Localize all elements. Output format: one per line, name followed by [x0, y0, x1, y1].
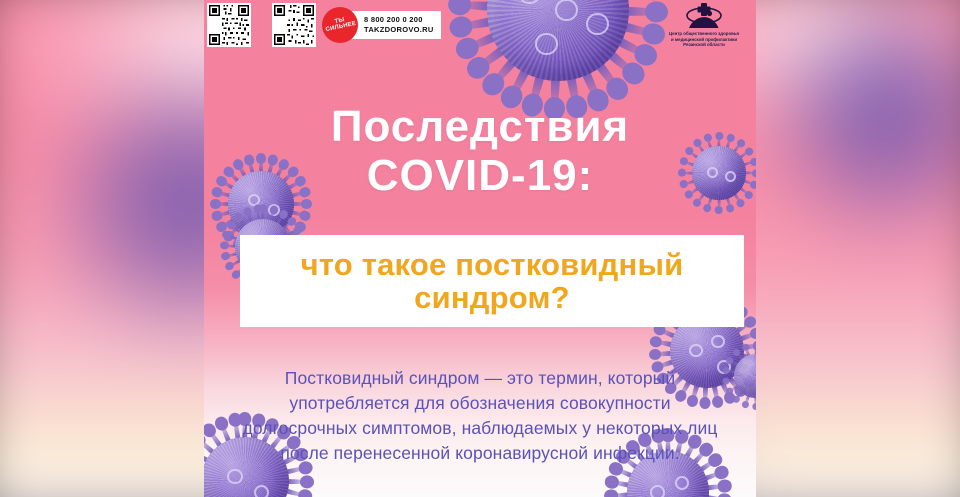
virus-spikes [724, 344, 756, 408]
org-name-line3: Рязанской области [662, 42, 746, 48]
virus-capsid [734, 354, 756, 398]
organization-name: Центр общественного здоровья и медицинск… [658, 31, 750, 48]
virus-particle-right-edge [724, 344, 756, 408]
subtitle-banner: что такое постковидный синдром? [240, 235, 744, 327]
qr-code-1[interactable] [207, 3, 251, 47]
qr-code-icon [209, 5, 249, 45]
virus-texture [734, 354, 756, 398]
hotline-site: TAKZDOROVO.RU [364, 25, 434, 35]
qr-code-icon [274, 5, 314, 45]
subtitle-text: что такое постковидный синдром? [295, 248, 690, 315]
poster-headline: Последствия COVID-19: [204, 104, 756, 199]
ty-silnee-badge: ТЫ СИЛЬНЕЕ [322, 7, 358, 43]
subtitle-line2: синдром? [301, 281, 684, 314]
qr-code-2[interactable] [272, 3, 316, 47]
org-name-line1: Центр общественного здоровья [662, 31, 746, 37]
hotline-phone: 8 800 200 0 200 [364, 15, 434, 25]
headline-line2: COVID-19: [204, 153, 756, 200]
poster-top-bar: ТЫ СИЛЬНЕЕ 8 800 200 0 200 TAKZDOROVO.RU [204, 0, 756, 52]
poster-image: ТЫ СИЛЬНЕЕ 8 800 200 0 200 TAKZDOROVO.RU [204, 0, 756, 497]
organization-logo: Центр общественного здоровья и медицинск… [658, 2, 750, 48]
headline-line1: Последствия [204, 104, 756, 151]
cross-and-figure-icon [679, 2, 729, 30]
body-paragraph: Постковидный синдром — это термин, котор… [238, 366, 722, 466]
subtitle-line1: что такое постковидный [301, 247, 684, 282]
badge-text: ТЫ СИЛЬНЕЕ [324, 16, 357, 33]
health-center-emblem-icon [658, 2, 750, 30]
hotline-block[interactable]: ТЫ СИЛЬНЕЕ 8 800 200 0 200 TAKZDOROVO.RU [322, 7, 441, 43]
hotline-contact: 8 800 200 0 200 TAKZDOROVO.RU [352, 11, 441, 39]
screenshot-canvas: ТЫ СИЛЬНЕЕ 8 800 200 0 200 TAKZDOROVO.RU [0, 0, 960, 497]
